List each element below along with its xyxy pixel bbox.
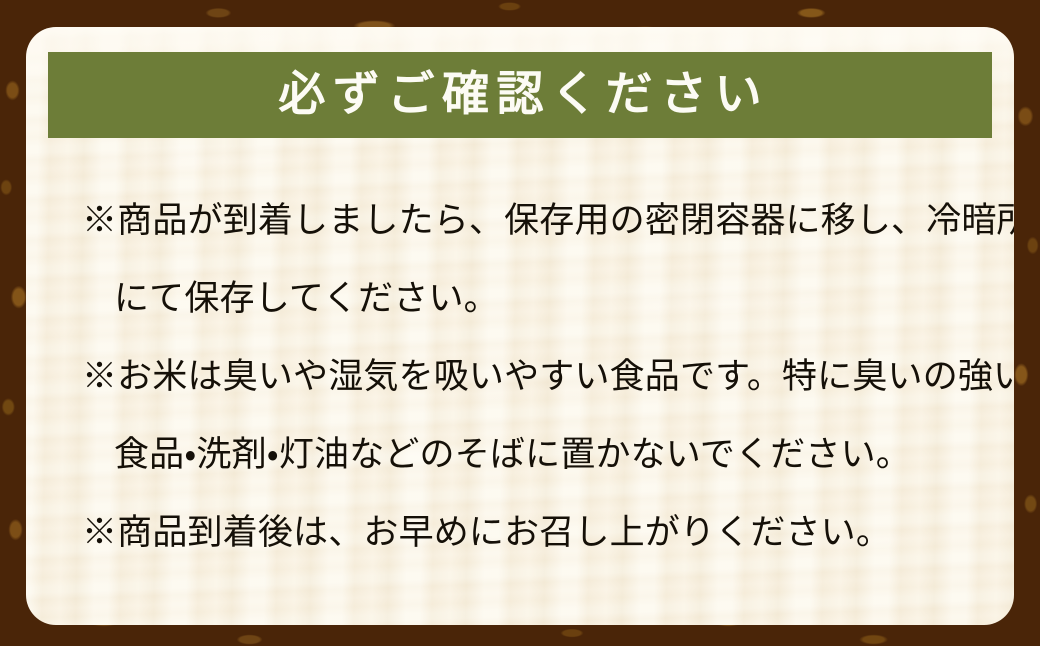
notice-line: ※商品到着後は、お早めにお召し上がりください。 <box>82 494 992 572</box>
notice-line: ※お米は臭いや湿気を吸いやすい食品です。特に臭いの強い <box>82 338 992 416</box>
notice-panel: 必ずご確認ください ※商品が到着しましたら、保存用の密閉容器に移し、冷暗所 にて… <box>26 27 1014 625</box>
notice-banner: 必ずご確認ください <box>48 52 992 138</box>
notice-card: 必ずご確認ください ※商品が到着しましたら、保存用の密閉容器に移し、冷暗所 にて… <box>0 0 1040 646</box>
notice-line: にて保存してください。 <box>82 260 992 338</box>
banner-title: 必ずご確認ください <box>271 72 769 119</box>
notice-line: 食品・洗剤・灯油などのそばに置かないでください。 <box>82 416 992 494</box>
notice-body: ※商品が到着しましたら、保存用の密閉容器に移し、冷暗所 にて保存してください。 … <box>82 182 992 572</box>
notice-line: ※商品が到着しましたら、保存用の密閉容器に移し、冷暗所 <box>82 182 992 260</box>
